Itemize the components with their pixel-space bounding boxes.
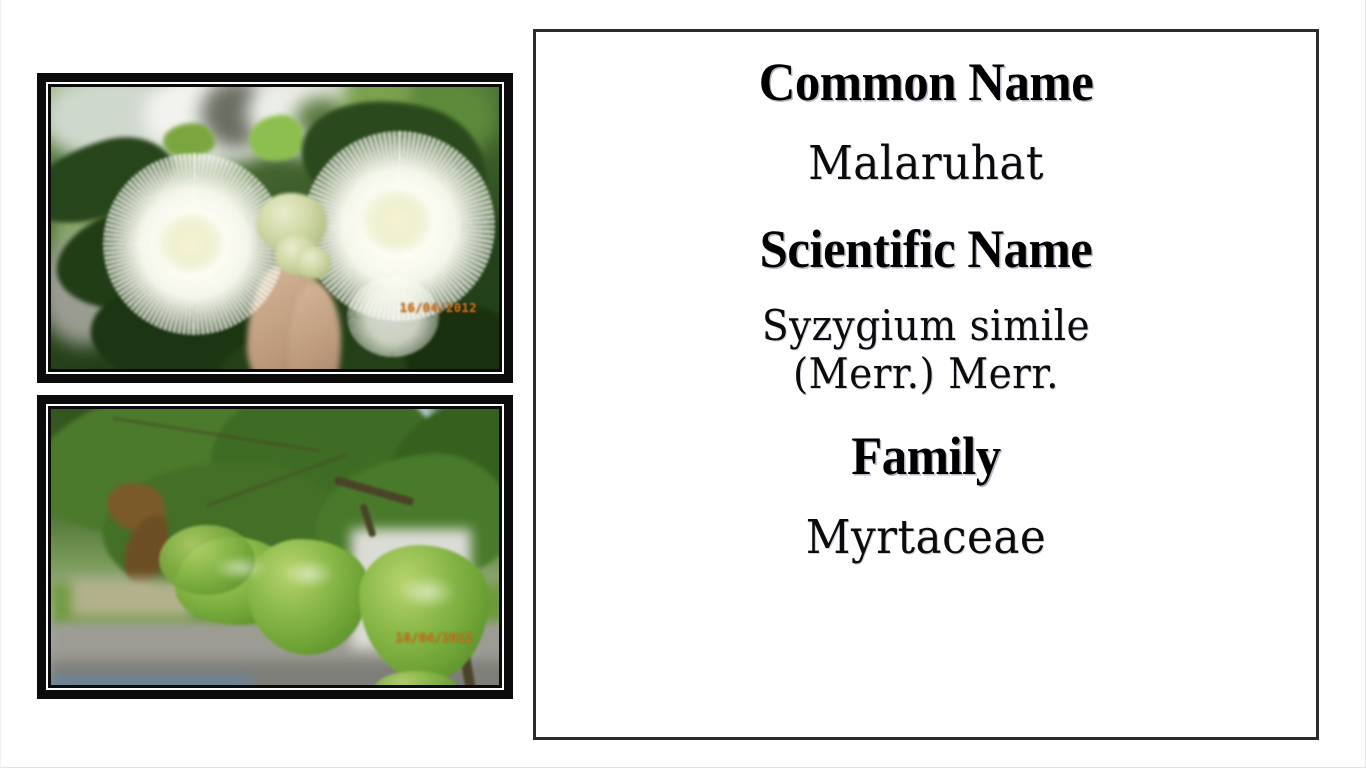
scientific-name-label: Scientific Name [559,221,1292,278]
plant-info-slide: 16/04/2012 [0,0,1366,768]
fruit-photo-frame: 16/04/2012 [37,395,513,699]
scientific-name-value-line2: (Merr.) Merr. [563,350,1288,398]
fruit-photo-mat: 16/04/2012 [46,404,504,690]
field-family: Family Myrtaceae [536,428,1316,565]
flower-photo-datestamp: 16/04/2012 [400,301,477,315]
plant-info-panel: Common Name Malaruhat Scientific Name Sy… [533,29,1319,740]
common-name-value: Malaruhat [563,137,1288,191]
scientific-name-value-line1: Syzygium simile [563,302,1288,350]
fruit-photo-datestamp: 16/04/2012 [396,631,473,645]
fruit-photo: 16/04/2012 [51,409,499,685]
family-value: Myrtaceae [563,511,1288,565]
family-label: Family [559,428,1292,485]
flower-photo: 16/04/2012 [51,87,499,369]
common-name-label: Common Name [559,54,1292,111]
field-common-name: Common Name Malaruhat [536,54,1316,191]
flower-photo-frame: 16/04/2012 [37,73,513,383]
field-scientific-name: Scientific Name Syzygium simile (Merr.) … [536,221,1316,398]
flower-photo-mat: 16/04/2012 [46,82,504,374]
